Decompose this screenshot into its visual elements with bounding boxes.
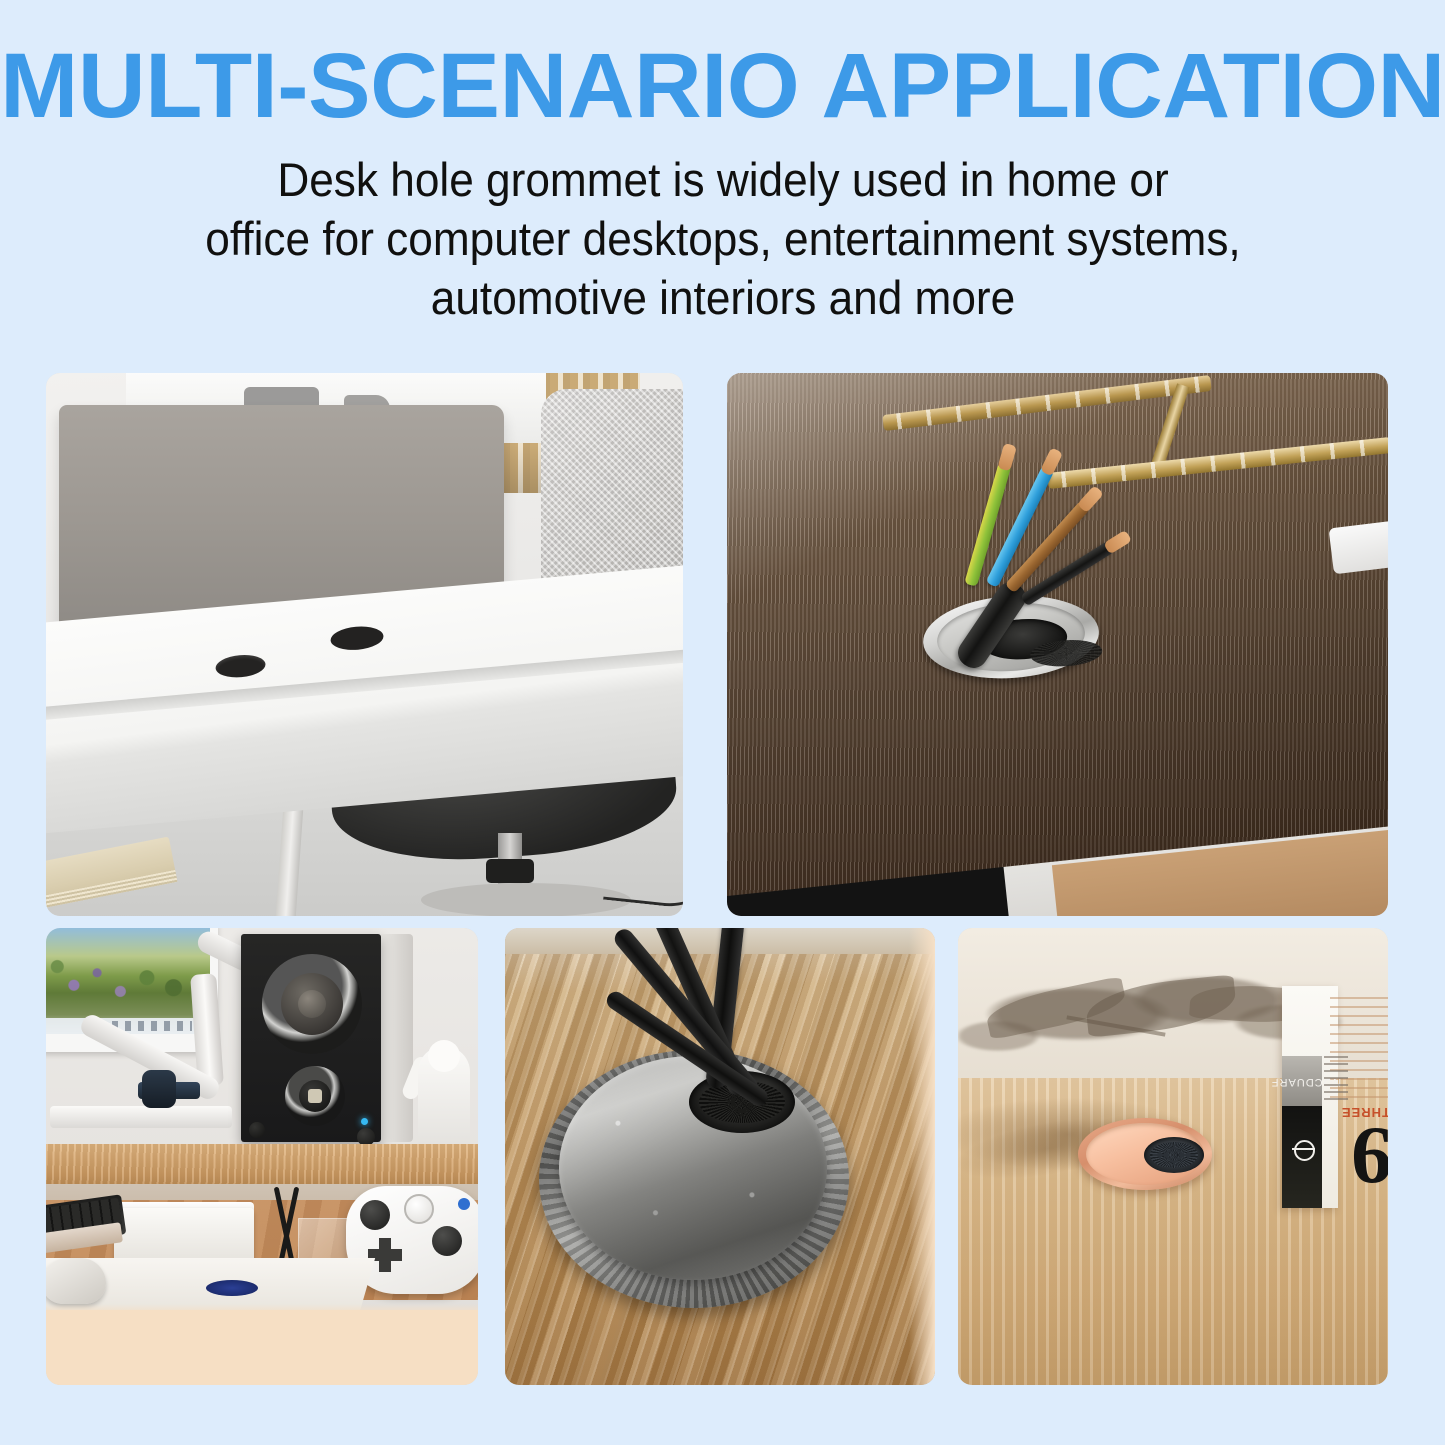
book-spine-sublines xyxy=(1324,1056,1348,1104)
controller-home-button xyxy=(404,1194,434,1224)
speaker-power-led xyxy=(361,1118,368,1125)
book-emblem-icon xyxy=(1294,1140,1315,1161)
rosegold-grommet-cap xyxy=(1086,1123,1204,1185)
controller-left-stick xyxy=(360,1200,390,1230)
rosegold-brush-insert xyxy=(1150,1142,1198,1168)
taskbar-icons xyxy=(112,1021,192,1031)
grommet-hole-right xyxy=(330,624,385,652)
right-edge-fade xyxy=(909,928,935,1385)
screen-taskbar xyxy=(46,1018,210,1034)
chair-base xyxy=(421,883,631,916)
desk-setup-scene xyxy=(46,928,478,1385)
smartwatch xyxy=(142,1070,176,1108)
screen-wallpaper-flora xyxy=(46,948,210,1010)
controller-dpad xyxy=(368,1238,402,1272)
controller-right-stick xyxy=(432,1226,462,1256)
speaker-woofer-dome xyxy=(298,990,326,1018)
dark-wood-scene xyxy=(727,373,1388,916)
grommet-hole-left xyxy=(215,653,267,679)
controller-blue-button xyxy=(458,1198,470,1210)
chair-height-knob xyxy=(486,859,534,883)
oak-grommet-scene xyxy=(505,928,935,1385)
speaker-aux-knob[interactable] xyxy=(249,1122,265,1138)
speaker-tweeter-core xyxy=(308,1089,322,1103)
rosegold-cable-port xyxy=(1144,1137,1204,1173)
rosegold-scene: NOCDUARF THREE 9 xyxy=(958,928,1388,1385)
mousepad-logo xyxy=(206,1280,258,1296)
bottom-cream-band xyxy=(46,1310,478,1385)
monitor-stand-shelf xyxy=(50,1106,232,1128)
floor-cable xyxy=(603,837,683,912)
photo-gallery: NOCDUARF THREE 9 xyxy=(0,0,1445,1445)
speaker-cabinet-side xyxy=(381,934,413,1142)
mouse[interactable] xyxy=(46,1258,106,1304)
rosegold-grommet-ring xyxy=(1078,1118,1212,1190)
desk-front-edge xyxy=(46,641,683,722)
photo-oak-grommet xyxy=(505,928,935,1385)
office-desk-scene xyxy=(46,373,683,916)
photo-dark-wood-wires xyxy=(727,373,1388,916)
bookshelf-speaker xyxy=(241,934,381,1142)
book-spine-label: NOCDUARF xyxy=(1284,1060,1328,1104)
astronaut-helmet xyxy=(428,1040,460,1072)
photo-rosegold-grommet: NOCDUARF THREE 9 xyxy=(958,928,1388,1385)
book-number-label: 9 xyxy=(1330,1120,1388,1192)
photo-desk-setup xyxy=(46,928,478,1385)
photo-office-desk xyxy=(46,373,683,916)
